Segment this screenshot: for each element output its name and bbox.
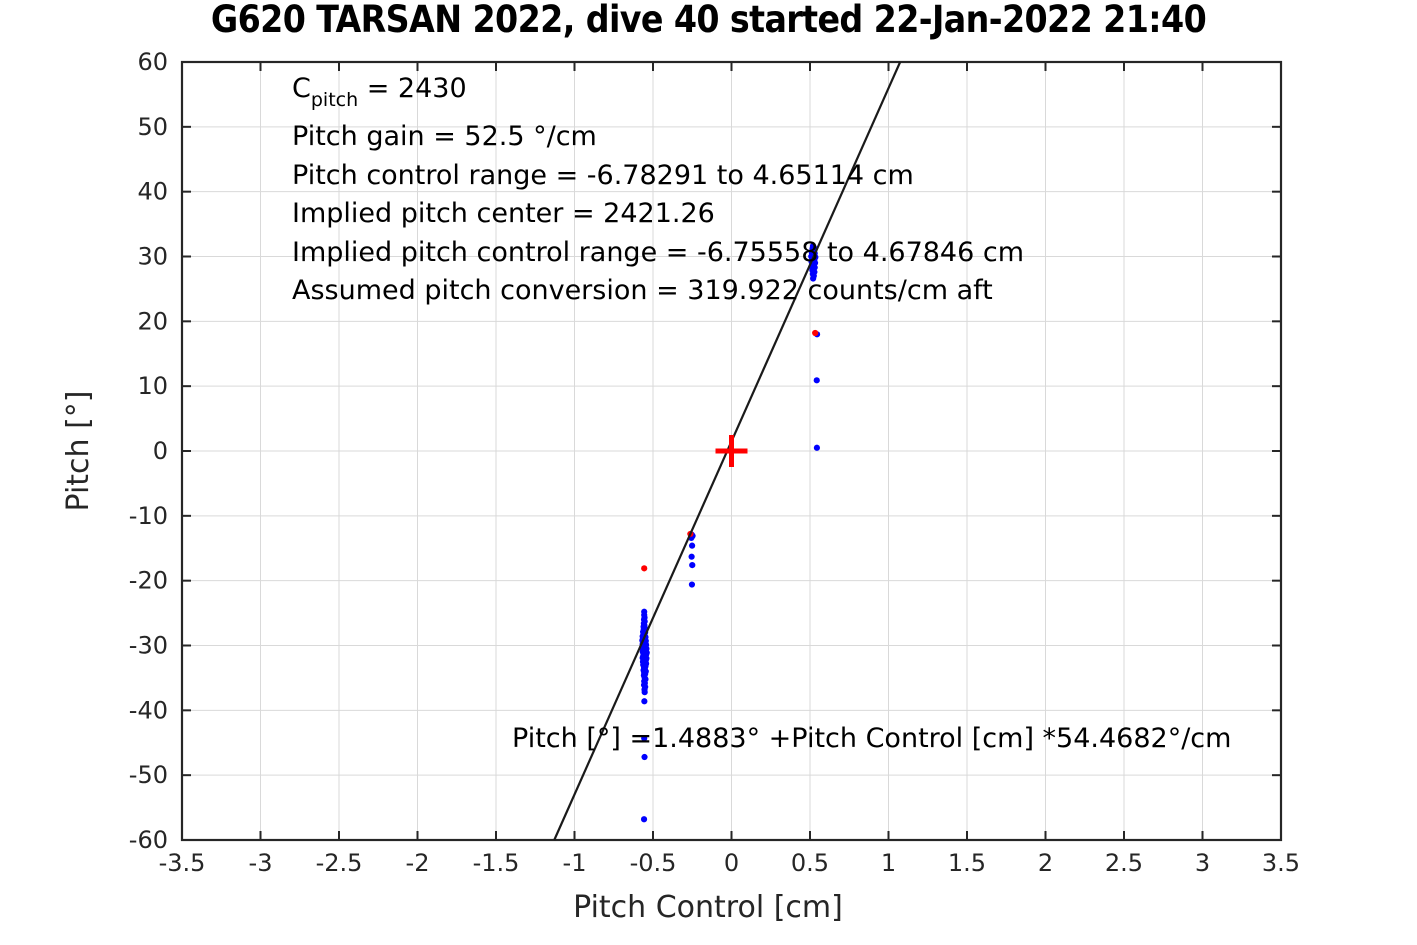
data-point bbox=[812, 330, 818, 336]
data-point bbox=[689, 562, 695, 568]
x-tick-label: 3.5 bbox=[1262, 849, 1300, 877]
y-tick-label: -60 bbox=[129, 826, 168, 854]
y-tick-label: 20 bbox=[137, 307, 168, 335]
data-point bbox=[689, 581, 695, 587]
annotation-line-4: Implied pitch center = 2421.26 bbox=[292, 198, 715, 229]
y-tick-label: 60 bbox=[137, 48, 168, 76]
data-point bbox=[641, 754, 647, 760]
x-tick-label: 3 bbox=[1195, 849, 1210, 877]
data-point bbox=[642, 689, 648, 695]
annotation-line-5: Implied pitch control range = -6.75558 t… bbox=[292, 237, 1024, 268]
y-tick-label: 10 bbox=[137, 372, 168, 400]
annotation-line-3: Pitch control range = -6.78291 to 4.6511… bbox=[292, 160, 914, 191]
annotation-line-2: Pitch gain = 52.5 °/cm bbox=[292, 121, 597, 152]
y-tick-label: -20 bbox=[129, 567, 168, 595]
center-marker bbox=[716, 435, 748, 467]
data-point bbox=[641, 698, 647, 704]
y-axis-title: Pitch [°] bbox=[61, 391, 96, 512]
x-tick-label: 1.5 bbox=[948, 849, 986, 877]
data-point bbox=[641, 565, 647, 571]
x-tick-label: -2.5 bbox=[316, 849, 363, 877]
regression-equation-label: Pitch [°] =1.4883° +Pitch Control [cm] *… bbox=[512, 723, 1231, 754]
y-tick-label: 40 bbox=[137, 178, 168, 206]
annotation-line-6: Assumed pitch conversion = 319.922 count… bbox=[292, 275, 993, 306]
x-tick-label: 2 bbox=[1038, 849, 1053, 877]
data-point bbox=[814, 377, 820, 383]
pitch-control-scatter-chart: -3.5-3-2.5-2-1.5-1-0.500.511.522.533.5-6… bbox=[0, 0, 1417, 945]
x-tick-label: 0.5 bbox=[791, 849, 829, 877]
data-point bbox=[641, 816, 647, 822]
x-tick-label: -1.5 bbox=[473, 849, 520, 877]
data-point bbox=[689, 554, 695, 560]
x-tick-label: -3 bbox=[249, 849, 273, 877]
x-tick-label: -0.5 bbox=[630, 849, 677, 877]
y-tick-label: -10 bbox=[129, 502, 168, 530]
x-tick-label: 0 bbox=[724, 849, 739, 877]
x-axis-title: Pitch Control [cm] bbox=[573, 890, 843, 925]
y-tick-label: -50 bbox=[129, 761, 168, 789]
data-point bbox=[689, 543, 695, 549]
y-tick-label: 30 bbox=[137, 243, 168, 271]
data-point bbox=[814, 445, 820, 451]
x-tick-label: -2 bbox=[406, 849, 430, 877]
y-tick-label: 50 bbox=[137, 113, 168, 141]
y-tick-label: -30 bbox=[129, 632, 168, 660]
x-tick-label: 2.5 bbox=[1105, 849, 1143, 877]
x-tick-label: -1 bbox=[563, 849, 587, 877]
y-tick-label: -40 bbox=[129, 696, 168, 724]
y-tick-label: 0 bbox=[153, 437, 168, 465]
figure-container: G620 TARSAN 2022, dive 40 started 22-Jan… bbox=[0, 0, 1417, 945]
x-tick-label: 1 bbox=[881, 849, 896, 877]
annotation-line-1: Cpitch = 2430 bbox=[292, 73, 467, 111]
